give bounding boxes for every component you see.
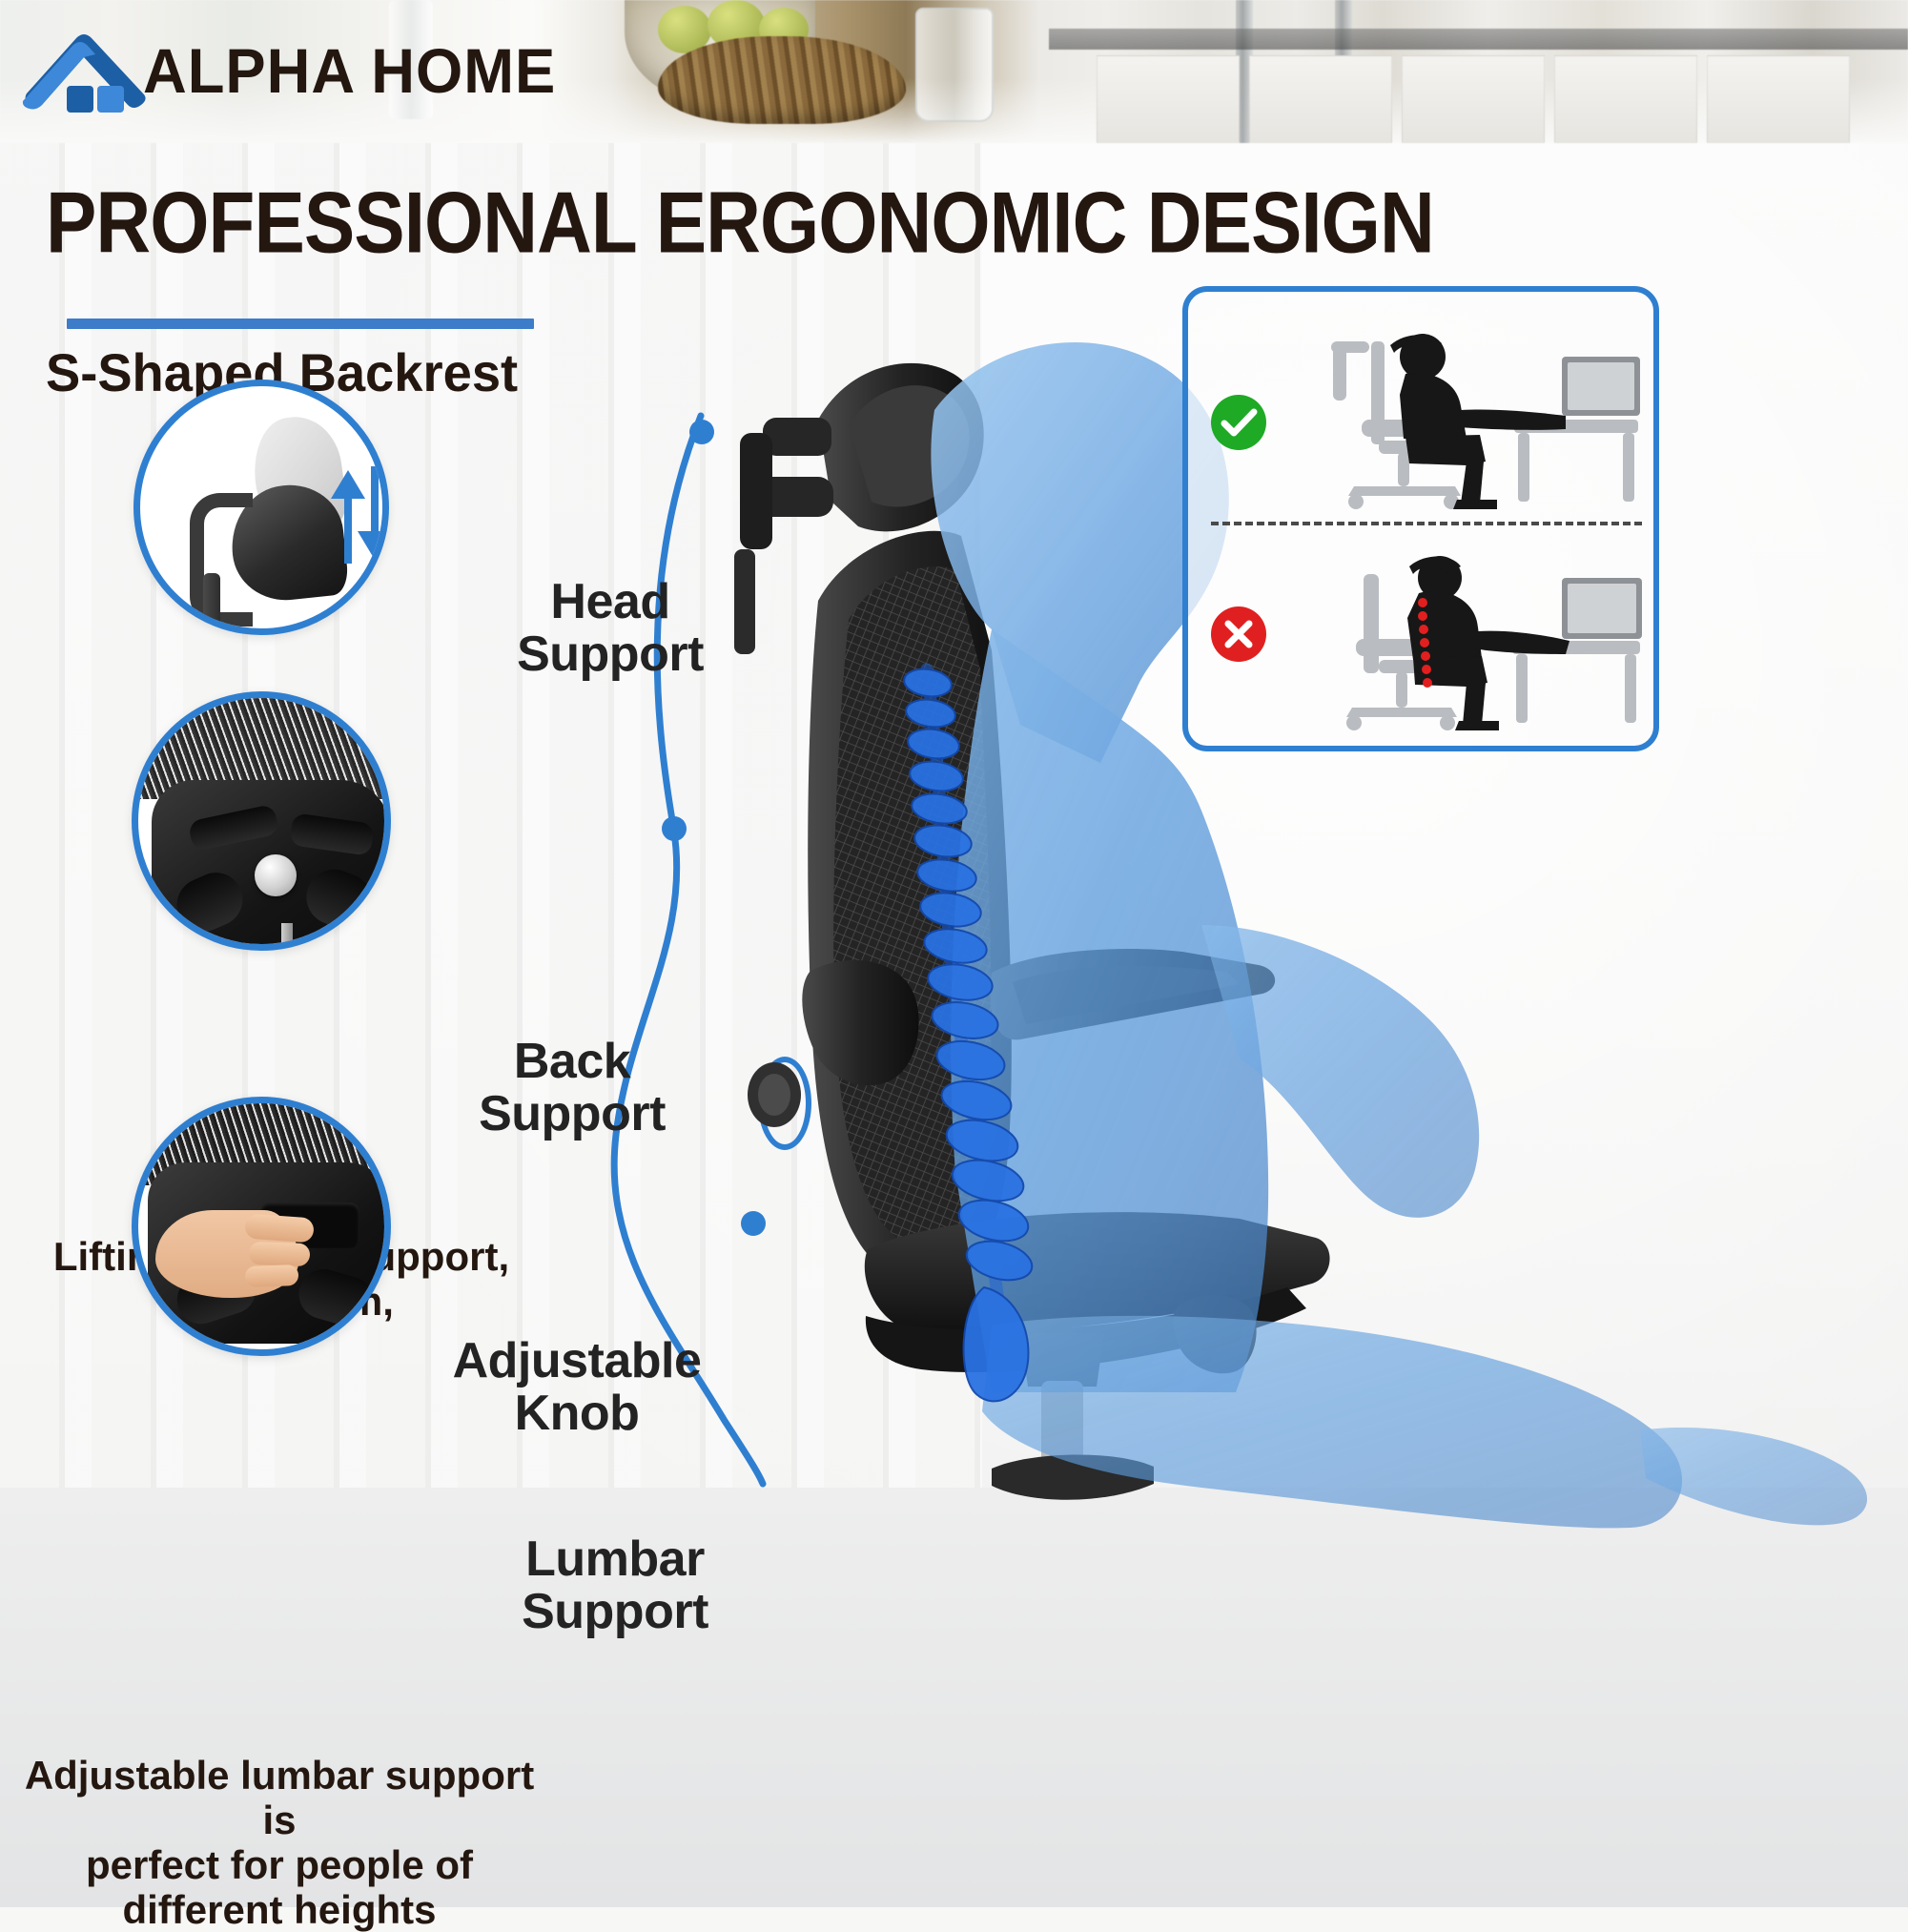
chair-post	[281, 923, 293, 951]
headrest-bracket	[740, 433, 772, 549]
callout-back-support-line1: Back	[429, 1036, 715, 1088]
hand-adjusting-lumbar-inset	[132, 1097, 391, 1356]
finger	[249, 1242, 311, 1266]
headrest-stem	[203, 573, 220, 635]
hand-inset-art	[138, 1103, 384, 1349]
adjustable-lumbar-caption: Adjustable lumbar support is perfect for…	[8, 1753, 551, 1932]
callout-adjustable-knob-line2: Knob	[410, 1387, 744, 1440]
headrest-bracket	[190, 493, 253, 627]
incorrect-slouched-posture-art	[1280, 547, 1648, 734]
headrest-stem	[734, 549, 755, 654]
callout-dot-back	[662, 816, 687, 841]
figure-hand	[1640, 1428, 1867, 1525]
callout-back-support-line2: Support	[429, 1088, 715, 1141]
brand-header: ALPHA HOME	[0, 0, 1908, 143]
up-down-arrows-icon	[327, 464, 389, 564]
finger	[245, 1264, 299, 1287]
title-underline-rule	[67, 319, 534, 329]
correct-sitting-posture-art	[1280, 328, 1648, 511]
headrest-adjustment-inset	[133, 380, 389, 635]
brand-name: ALPHA HOME	[143, 34, 556, 107]
callout-adjustable-knob: Adjustable Knob	[410, 1335, 744, 1439]
callout-adjustable-knob-line1: Adjustable	[410, 1335, 744, 1387]
posture-comparison-box	[1182, 286, 1659, 751]
posture-divider	[1211, 522, 1642, 525]
adjustable-caption-line3: different heights	[8, 1887, 551, 1932]
lumbar-knob-inset	[132, 691, 391, 951]
headrest-inset-art	[140, 386, 382, 628]
adjustable-caption-line2: perfect for people of	[8, 1842, 551, 1887]
adjustment-knob	[255, 854, 297, 896]
callout-back-support: Back Support	[429, 1036, 715, 1140]
page-title: PROFESSIONAL ERGONOMIC DESIGN	[46, 174, 1434, 274]
cross-circle-icon	[1211, 606, 1266, 662]
lumbar-knob-inset-art	[138, 698, 384, 944]
adjustable-caption-line1: Adjustable lumbar support is	[8, 1753, 551, 1842]
house-logo-icon	[21, 27, 151, 114]
headrest-arm	[763, 418, 831, 456]
finger	[244, 1214, 315, 1243]
check-circle-icon	[1211, 395, 1266, 450]
